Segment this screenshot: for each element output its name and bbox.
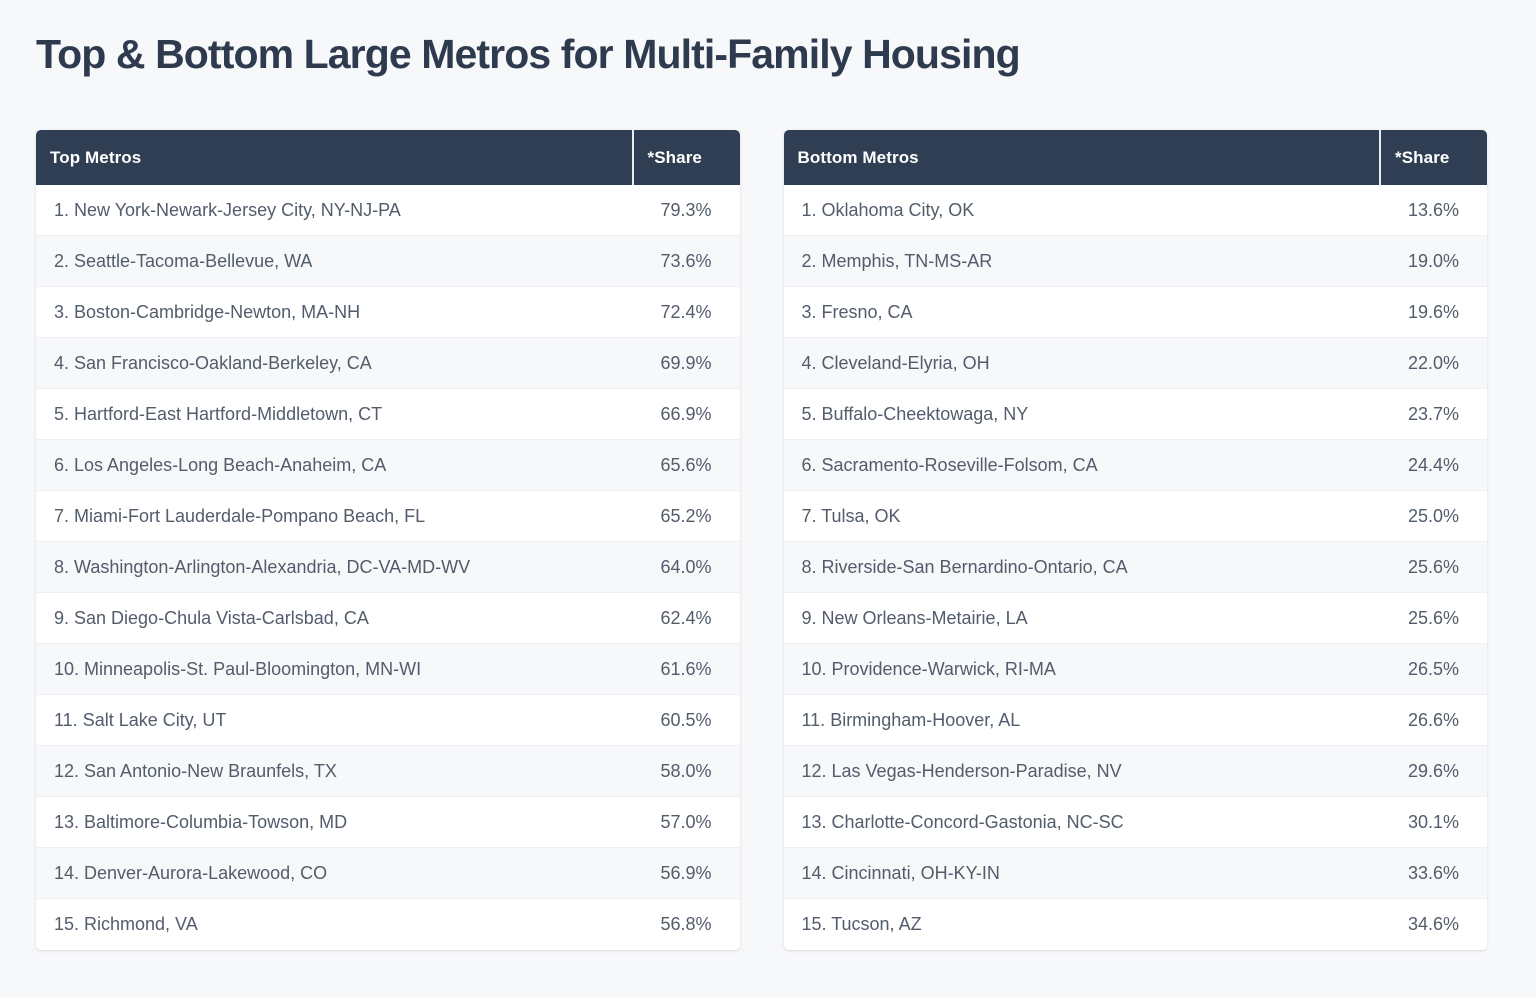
metro-name: 6. Sacramento-Roseville-Folsom, CA: [784, 455, 1370, 476]
table-row[interactable]: 10. Minneapolis-St. Paul-Bloomington, MN…: [36, 644, 740, 695]
table-row[interactable]: 11. Birmingham-Hoover, AL 26.6%: [784, 695, 1488, 746]
table-row[interactable]: 5. Buffalo-Cheektowaga, NY 23.7%: [784, 389, 1488, 440]
table-row[interactable]: 14. Denver-Aurora-Lakewood, CO 56.9%: [36, 848, 740, 899]
metro-share: 61.6%: [622, 659, 740, 680]
metro-name: 1. Oklahoma City, OK: [784, 200, 1370, 221]
bottom-metros-body: 1. Oklahoma City, OK 13.6% 2. Memphis, T…: [784, 185, 1488, 950]
metro-share: 69.9%: [622, 353, 740, 374]
metro-name: 10. Providence-Warwick, RI-MA: [784, 659, 1370, 680]
top-metros-table: Top Metros *Share 1. New York-Newark-Jer…: [36, 130, 740, 950]
metro-share: 57.0%: [622, 812, 740, 833]
table-row[interactable]: 4. San Francisco-Oakland-Berkeley, CA 69…: [36, 338, 740, 389]
metro-name: 11. Birmingham-Hoover, AL: [784, 710, 1370, 731]
metro-share: 22.0%: [1369, 353, 1487, 374]
page-root: Top & Bottom Large Metros for Multi-Fami…: [0, 0, 1536, 997]
table-row[interactable]: 6. Sacramento-Roseville-Folsom, CA 24.4%: [784, 440, 1488, 491]
table-row[interactable]: 3. Boston-Cambridge-Newton, MA-NH 72.4%: [36, 287, 740, 338]
metro-name: 2. Seattle-Tacoma-Bellevue, WA: [36, 251, 622, 272]
metro-name: 1. New York-Newark-Jersey City, NY-NJ-PA: [36, 200, 622, 221]
metro-share: 19.0%: [1369, 251, 1487, 272]
column-header-metro[interactable]: Top Metros: [36, 130, 634, 185]
table-row[interactable]: 8. Washington-Arlington-Alexandria, DC-V…: [36, 542, 740, 593]
table-row[interactable]: 9. San Diego-Chula Vista-Carlsbad, CA 62…: [36, 593, 740, 644]
metro-share: 64.0%: [622, 557, 740, 578]
metro-share: 62.4%: [622, 608, 740, 629]
metro-share: 26.6%: [1369, 710, 1487, 731]
metro-name: 4. Cleveland-Elyria, OH: [784, 353, 1370, 374]
column-header-share[interactable]: *Share: [634, 130, 740, 185]
table-row[interactable]: 8. Riverside-San Bernardino-Ontario, CA …: [784, 542, 1488, 593]
table-header-row: Top Metros *Share: [36, 130, 740, 185]
metro-share: 58.0%: [622, 761, 740, 782]
metro-share: 56.8%: [622, 914, 740, 935]
metro-share: 79.3%: [622, 200, 740, 221]
metro-share: 60.5%: [622, 710, 740, 731]
metro-share: 19.6%: [1369, 302, 1487, 323]
metro-share: 66.9%: [622, 404, 740, 425]
table-row[interactable]: 7. Tulsa, OK 25.0%: [784, 491, 1488, 542]
table-row[interactable]: 1. Oklahoma City, OK 13.6%: [784, 185, 1488, 236]
metro-name: 5. Hartford-East Hartford-Middletown, CT: [36, 404, 622, 425]
metro-name: 13. Baltimore-Columbia-Towson, MD: [36, 812, 622, 833]
metro-share: 33.6%: [1369, 863, 1487, 884]
metro-name: 8. Washington-Arlington-Alexandria, DC-V…: [36, 557, 622, 578]
table-header-row: Bottom Metros *Share: [784, 130, 1488, 185]
table-row[interactable]: 9. New Orleans-Metairie, LA 25.6%: [784, 593, 1488, 644]
table-row[interactable]: 4. Cleveland-Elyria, OH 22.0%: [784, 338, 1488, 389]
table-row[interactable]: 6. Los Angeles-Long Beach-Anaheim, CA 65…: [36, 440, 740, 491]
metro-share: 72.4%: [622, 302, 740, 323]
metro-name: 13. Charlotte-Concord-Gastonia, NC-SC: [784, 812, 1370, 833]
metro-name: 12. Las Vegas-Henderson-Paradise, NV: [784, 761, 1370, 782]
table-row[interactable]: 1. New York-Newark-Jersey City, NY-NJ-PA…: [36, 185, 740, 236]
metro-name: 3. Boston-Cambridge-Newton, MA-NH: [36, 302, 622, 323]
metro-name: 5. Buffalo-Cheektowaga, NY: [784, 404, 1370, 425]
table-row[interactable]: 13. Baltimore-Columbia-Towson, MD 57.0%: [36, 797, 740, 848]
tables-container: Top Metros *Share 1. New York-Newark-Jer…: [36, 130, 1487, 950]
metro-share: 25.0%: [1369, 506, 1487, 527]
metro-name: 9. San Diego-Chula Vista-Carlsbad, CA: [36, 608, 622, 629]
table-row[interactable]: 3. Fresno, CA 19.6%: [784, 287, 1488, 338]
table-row[interactable]: 15. Richmond, VA 56.8%: [36, 899, 740, 950]
column-header-share[interactable]: *Share: [1381, 130, 1487, 185]
table-row[interactable]: 14. Cincinnati, OH-KY-IN 33.6%: [784, 848, 1488, 899]
metro-name: 3. Fresno, CA: [784, 302, 1370, 323]
metro-share: 73.6%: [622, 251, 740, 272]
column-header-metro[interactable]: Bottom Metros: [784, 130, 1382, 185]
metro-share: 13.6%: [1369, 200, 1487, 221]
metro-share: 26.5%: [1369, 659, 1487, 680]
metro-name: 7. Miami-Fort Lauderdale-Pompano Beach, …: [36, 506, 622, 527]
metro-name: 6. Los Angeles-Long Beach-Anaheim, CA: [36, 455, 622, 476]
table-row[interactable]: 12. San Antonio-New Braunfels, TX 58.0%: [36, 746, 740, 797]
table-row[interactable]: 15. Tucson, AZ 34.6%: [784, 899, 1488, 950]
table-row[interactable]: 11. Salt Lake City, UT 60.5%: [36, 695, 740, 746]
table-row[interactable]: 5. Hartford-East Hartford-Middletown, CT…: [36, 389, 740, 440]
table-row[interactable]: 2. Seattle-Tacoma-Bellevue, WA 73.6%: [36, 236, 740, 287]
metro-name: 14. Denver-Aurora-Lakewood, CO: [36, 863, 622, 884]
page-title: Top & Bottom Large Metros for Multi-Fami…: [36, 30, 1020, 79]
table-row[interactable]: 2. Memphis, TN-MS-AR 19.0%: [784, 236, 1488, 287]
table-row[interactable]: 12. Las Vegas-Henderson-Paradise, NV 29.…: [784, 746, 1488, 797]
metro-share: 65.6%: [622, 455, 740, 476]
metro-name: 14. Cincinnati, OH-KY-IN: [784, 863, 1370, 884]
metro-share: 34.6%: [1369, 914, 1487, 935]
metro-share: 65.2%: [622, 506, 740, 527]
table-row[interactable]: 7. Miami-Fort Lauderdale-Pompano Beach, …: [36, 491, 740, 542]
metro-share: 56.9%: [622, 863, 740, 884]
metro-name: 2. Memphis, TN-MS-AR: [784, 251, 1370, 272]
metro-name: 4. San Francisco-Oakland-Berkeley, CA: [36, 353, 622, 374]
metro-name: 12. San Antonio-New Braunfels, TX: [36, 761, 622, 782]
metro-name: 10. Minneapolis-St. Paul-Bloomington, MN…: [36, 659, 622, 680]
metro-name: 9. New Orleans-Metairie, LA: [784, 608, 1370, 629]
metro-share: 25.6%: [1369, 608, 1487, 629]
metro-share: 23.7%: [1369, 404, 1487, 425]
metro-name: 7. Tulsa, OK: [784, 506, 1370, 527]
metro-share: 30.1%: [1369, 812, 1487, 833]
metro-share: 29.6%: [1369, 761, 1487, 782]
metro-name: 11. Salt Lake City, UT: [36, 710, 622, 731]
bottom-metros-table: Bottom Metros *Share 1. Oklahoma City, O…: [784, 130, 1488, 950]
metro-share: 25.6%: [1369, 557, 1487, 578]
table-row[interactable]: 13. Charlotte-Concord-Gastonia, NC-SC 30…: [784, 797, 1488, 848]
metro-share: 24.4%: [1369, 455, 1487, 476]
metro-name: 15. Tucson, AZ: [784, 914, 1370, 935]
metro-name: 15. Richmond, VA: [36, 914, 622, 935]
top-metros-body: 1. New York-Newark-Jersey City, NY-NJ-PA…: [36, 185, 740, 950]
table-row[interactable]: 10. Providence-Warwick, RI-MA 26.5%: [784, 644, 1488, 695]
metro-name: 8. Riverside-San Bernardino-Ontario, CA: [784, 557, 1370, 578]
